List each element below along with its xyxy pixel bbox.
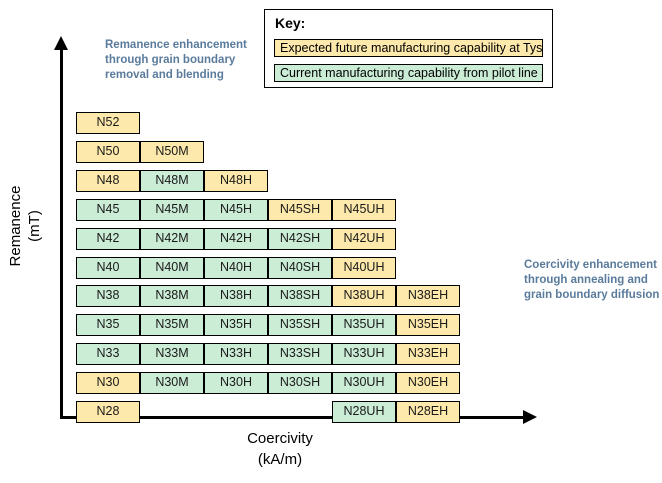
grade-cell-n50: N50 <box>76 141 140 163</box>
grade-cell-n30m: N30M <box>140 372 204 394</box>
y-axis-line <box>60 48 63 419</box>
grade-cell-n38uh: N38UH <box>332 285 396 307</box>
grade-cell-n45uh: N45UH <box>332 199 396 221</box>
grade-cell-n45: N45 <box>76 199 140 221</box>
grade-cell-n38sh: N38SH <box>268 285 332 307</box>
grade-cell-n42sh: N42SH <box>268 228 332 250</box>
annotation-coercivity-enhancement: Coercivity enhancement through annealing… <box>524 258 662 303</box>
grade-cell-n28uh: N28UH <box>332 401 396 423</box>
grade-cell-n40sh: N40SH <box>268 257 332 279</box>
legend-title: Key: <box>275 15 305 31</box>
grade-cell-n38h: N38H <box>204 285 268 307</box>
grade-cell-n45m: N45M <box>140 199 204 221</box>
y-axis-title: Remanence (mT) <box>6 166 44 286</box>
grade-cell-n30eh: N30EH <box>396 372 460 394</box>
grade-cell-n33m: N33M <box>140 343 204 365</box>
grade-cell-n48h: N48H <box>204 170 268 192</box>
legend-key-box: Key: Expected future manufacturing capab… <box>264 9 553 88</box>
x-axis-title: Coercivity (kA/m) <box>175 428 385 470</box>
grade-cell-n42: N42 <box>76 228 140 250</box>
legend-item-expected-future: Expected future manufacturing capability… <box>274 39 543 57</box>
y-axis-arrow-icon <box>54 36 68 50</box>
grade-cell-n35h: N35H <box>204 314 268 336</box>
grade-cell-n52: N52 <box>76 112 140 134</box>
x-axis-arrow-icon <box>523 410 537 424</box>
grade-cell-n35sh: N35SH <box>268 314 332 336</box>
grade-cell-n33uh: N33UH <box>332 343 396 365</box>
grade-cell-n38m: N38M <box>140 285 204 307</box>
grade-cell-n33h: N33H <box>204 343 268 365</box>
grade-cell-n30: N30 <box>76 372 140 394</box>
grade-cell-n28eh: N28EH <box>396 401 460 423</box>
grade-cell-n42h: N42H <box>204 228 268 250</box>
grade-cell-n48m: N48M <box>140 170 204 192</box>
grade-cell-n35eh: N35EH <box>396 314 460 336</box>
grade-cell-n35uh: N35UH <box>332 314 396 336</box>
grade-cell-n45h: N45H <box>204 199 268 221</box>
grade-cell-n35m: N35M <box>140 314 204 336</box>
grade-cell-n42m: N42M <box>140 228 204 250</box>
grade-cell-n33sh: N33SH <box>268 343 332 365</box>
grade-cell-n50m: N50M <box>140 141 204 163</box>
grade-cell-n40h: N40H <box>204 257 268 279</box>
grade-cell-n33: N33 <box>76 343 140 365</box>
grade-cell-n38: N38 <box>76 285 140 307</box>
grade-cell-n35: N35 <box>76 314 140 336</box>
grade-cell-n30h: N30H <box>204 372 268 394</box>
grade-cell-n48: N48 <box>76 170 140 192</box>
legend-item-current-capability: Current manufacturing capability from pi… <box>274 64 543 82</box>
grade-cell-n30uh: N30UH <box>332 372 396 394</box>
grade-cell-n40m: N40M <box>140 257 204 279</box>
grade-cell-n33eh: N33EH <box>396 343 460 365</box>
grade-cell-n45sh: N45SH <box>268 199 332 221</box>
grade-cell-n38eh: N38EH <box>396 285 460 307</box>
grade-cell-n42uh: N42UH <box>332 228 396 250</box>
grade-cell-n28: N28 <box>76 401 140 423</box>
grade-cell-n30sh: N30SH <box>268 372 332 394</box>
grade-cell-n40uh: N40UH <box>332 257 396 279</box>
grade-cell-n40: N40 <box>76 257 140 279</box>
annotation-remanence-enhancement: Remanence enhancement through grain boun… <box>105 38 250 83</box>
chart-canvas: Remanence (mT) Coercivity (kA/m) Key: Ex… <box>0 0 662 483</box>
